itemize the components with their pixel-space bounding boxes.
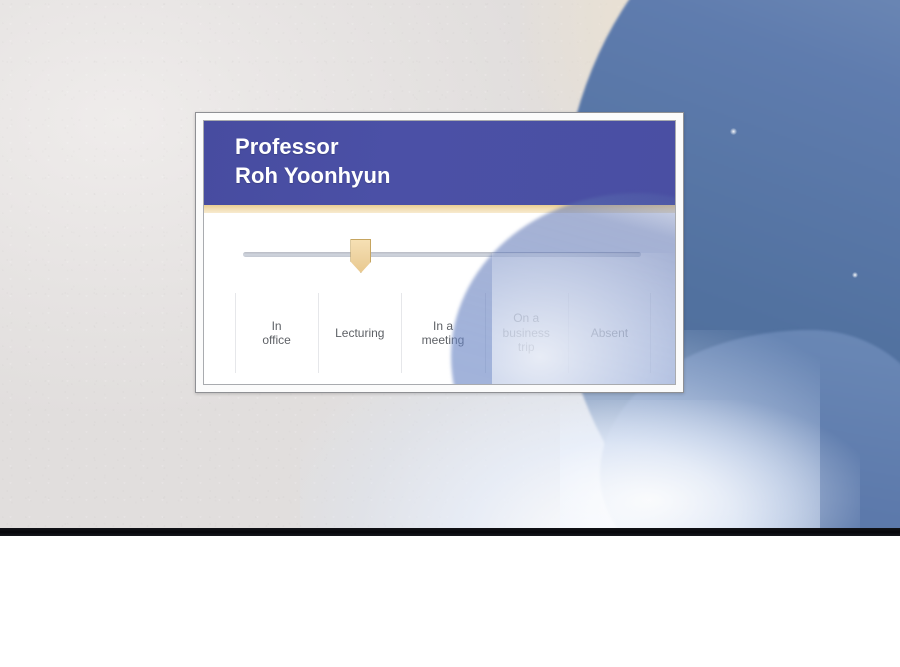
option-label-line1: In (272, 319, 282, 333)
status-option-in-a-meeting[interactable]: In a meeting (401, 291, 484, 375)
status-option-absent[interactable]: Absent (568, 291, 651, 375)
scene: Professor Roh Yoonhyun In office (0, 0, 900, 528)
option-label-line1: On a (513, 311, 539, 325)
accent-bar (204, 205, 675, 213)
status-options: In office Lecturing In a meeting (235, 291, 651, 375)
card-header: Professor Roh Yoonhyun (204, 121, 675, 205)
option-label-line1: Absent (591, 326, 628, 341)
status-card[interactable]: Professor Roh Yoonhyun In office (203, 120, 676, 385)
status-option-on-a-business-trip[interactable]: On a business trip (485, 291, 568, 375)
sparkle-icon (730, 128, 737, 135)
status-card-frame: Professor Roh Yoonhyun In office (195, 112, 684, 393)
status-option-in-office[interactable]: In office (235, 291, 318, 375)
option-label-line2: business (503, 326, 550, 340)
status-slider[interactable] (243, 241, 641, 267)
status-option-lecturing[interactable]: Lecturing (318, 291, 401, 375)
panel-divider (0, 528, 900, 536)
option-label-line3: trip (518, 340, 535, 354)
bottom-white-panel (0, 536, 900, 667)
slider-thumb-handle[interactable] (350, 239, 371, 273)
rim-light-glow-secondary (560, 400, 860, 528)
professor-title-line1: Professor (235, 132, 675, 161)
option-label-line2: office (262, 333, 290, 347)
sparkle-icon (852, 272, 858, 278)
option-label-line2: meeting (422, 333, 465, 347)
slider-track[interactable] (243, 252, 641, 257)
option-label-line1: Lecturing (335, 326, 384, 341)
screenshot-stage: Professor Roh Yoonhyun In office (0, 0, 900, 667)
card-body: In office Lecturing In a meeting (204, 213, 675, 384)
option-label-line1: In a (433, 319, 453, 333)
professor-name-line2: Roh Yoonhyun (235, 161, 675, 190)
